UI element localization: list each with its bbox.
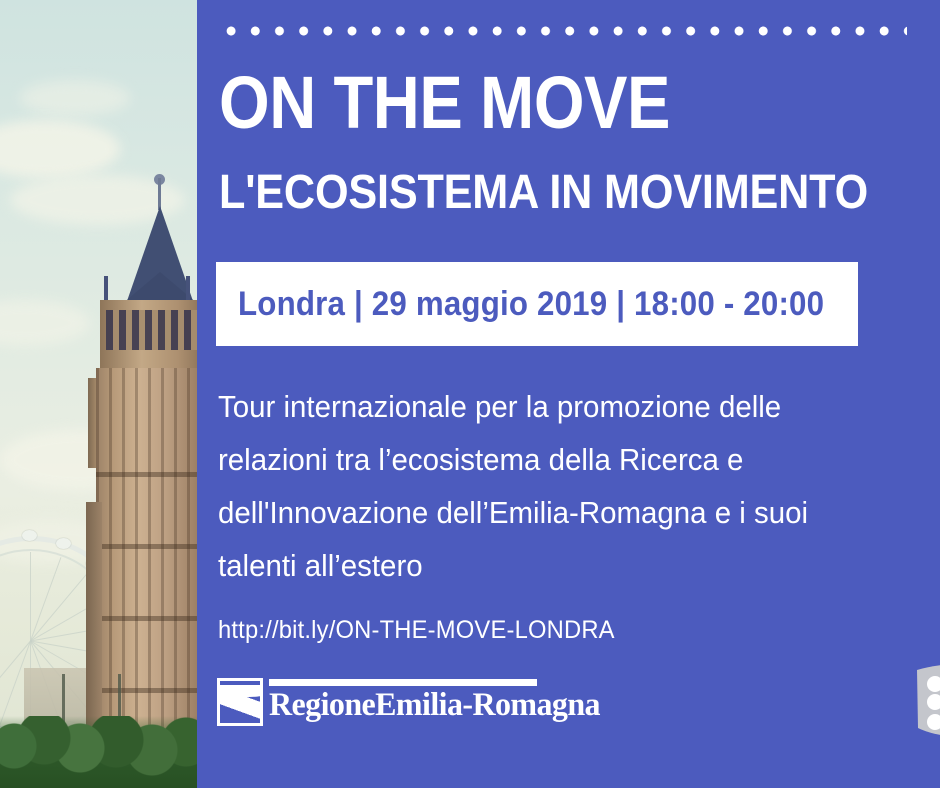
tower-cornice [96, 616, 197, 621]
belfry-openings [106, 310, 197, 350]
cloud-shape [0, 120, 120, 178]
tower-cornice [96, 544, 197, 549]
logo-top-rule [269, 679, 537, 686]
regione-emilia-romagna-logo: RegioneEmilia-Romagna [217, 676, 539, 730]
tower-cornice [96, 688, 197, 693]
roof-pinnacle [104, 276, 108, 302]
page-subtitle: L'ECOSISTEMA IN MOVIMENTO [219, 168, 885, 218]
registration-link[interactable]: http://bit.ly/ON-THE-MOVE-LONDRA [218, 616, 615, 645]
event-description: Tour internazionale per la promozione de… [218, 380, 874, 592]
art-er-mark-svg [915, 662, 940, 740]
wheel-pod [22, 530, 37, 541]
big-ben-tower [86, 172, 197, 788]
art-er-network-icon [915, 662, 940, 740]
tower-cornice [96, 472, 197, 477]
event-details-banner: Londra | 29 maggio 2019 | 18:00 - 20:00 [216, 262, 858, 346]
regione-logo-text: RegioneEmilia-Romagna [269, 688, 600, 722]
tree-line [0, 716, 197, 788]
cloud-shape [0, 300, 90, 346]
london-photo [0, 0, 197, 788]
cloud-shape [20, 80, 130, 116]
page-title: ON THE MOVE [219, 66, 835, 140]
event-date-time-text: Londra | 29 maggio 2019 | 18:00 - 20:00 [238, 285, 824, 324]
dotted-rule-decoration [219, 26, 907, 36]
roof-pinnacle [186, 276, 190, 302]
wheel-spoke [30, 552, 31, 641]
event-poster: ON THE MOVE L'ECOSISTEMA IN MOVIMENTO Lo… [0, 0, 940, 788]
content-panel: ON THE MOVE L'ECOSISTEMA IN MOVIMENTO Lo… [197, 0, 940, 788]
wave-top-shape [218, 685, 263, 697]
wheel-pod [56, 538, 71, 549]
regione-wave-icon [217, 678, 263, 726]
art-er-logo: ART-ER ATTRATTIVITÀ RICERCA TERRITORIO [915, 658, 940, 750]
